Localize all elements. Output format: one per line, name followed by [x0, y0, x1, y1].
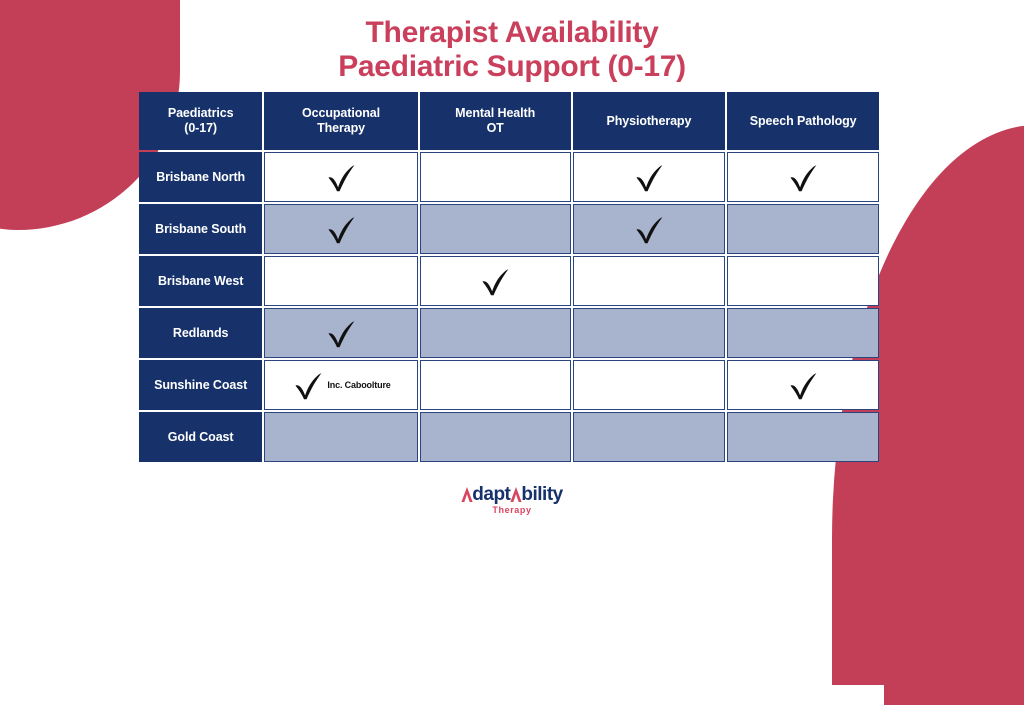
brand-logo-part1: dapt	[472, 484, 510, 505]
brand-logo-part2: bility	[521, 484, 562, 505]
availability-cell-empty	[727, 308, 879, 358]
table-row-label: Gold Coast	[139, 412, 262, 462]
availability-cell-note: Inc. Caboolture	[327, 380, 390, 390]
check-wrapper	[728, 361, 878, 409]
table-row-label: Redlands	[139, 308, 262, 358]
table-row: Gold Coast	[139, 412, 879, 462]
table-column-header: Paediatrics(0-17)	[139, 92, 262, 150]
availability-cell-available	[420, 256, 571, 306]
table-column-header-line: Physiotherapy	[573, 114, 726, 129]
availability-cell-available	[573, 152, 726, 202]
table-row: Brisbane West	[139, 256, 879, 306]
checkmark-icon	[291, 368, 325, 402]
checkmark-icon	[478, 264, 512, 298]
decorative-blob-bottom-right-fill	[884, 375, 1024, 705]
table-column-header: Speech Pathology	[727, 92, 879, 150]
check-wrapper	[421, 257, 570, 305]
availability-cell-empty	[264, 256, 418, 306]
availability-cell-empty	[420, 412, 571, 462]
availability-cell-available	[264, 152, 418, 202]
availability-cell-available	[727, 152, 879, 202]
table-row: Brisbane North	[139, 152, 879, 202]
lambda-a-icon-2	[510, 487, 522, 502]
table-row: Brisbane South	[139, 204, 879, 254]
checkmark-icon	[786, 160, 820, 194]
check-wrapper	[728, 153, 878, 201]
lambda-a-icon	[461, 487, 473, 502]
availability-cell-available	[727, 360, 879, 410]
table-column-header-line: Therapy	[264, 121, 418, 136]
table-column-header-line: Speech Pathology	[727, 114, 879, 129]
availability-cell-empty	[727, 256, 879, 306]
checkmark-icon	[632, 160, 666, 194]
availability-cell-empty	[420, 152, 571, 202]
table-column-header-line: Mental Health	[420, 106, 571, 121]
table-column-header: Mental HealthOT	[420, 92, 571, 150]
check-wrapper	[574, 153, 725, 201]
check-wrapper: Inc. Caboolture	[265, 361, 417, 409]
check-wrapper	[265, 309, 417, 357]
table-header: Paediatrics(0-17)OccupationalTherapyMent…	[139, 92, 879, 150]
table-row-label: Sunshine Coast	[139, 360, 262, 410]
availability-cell-empty	[727, 412, 879, 462]
table-row: Sunshine CoastInc. Caboolture	[139, 360, 879, 410]
brand-logo-wordmark: dapt bility	[461, 484, 562, 505]
check-wrapper	[574, 205, 725, 253]
brand-logo: dapt bility Therapy	[0, 484, 1024, 516]
checkmark-icon	[786, 368, 820, 402]
brand-logo-tagline: Therapy	[0, 504, 1024, 516]
checkmark-icon	[632, 212, 666, 246]
table-column-header: Physiotherapy	[573, 92, 726, 150]
table-row: Redlands	[139, 308, 879, 358]
checkmark-icon	[324, 160, 358, 194]
availability-table: Paediatrics(0-17)OccupationalTherapyMent…	[137, 90, 881, 464]
availability-cell-available	[264, 308, 418, 358]
availability-cell-empty	[727, 204, 879, 254]
check-wrapper	[265, 153, 417, 201]
availability-cell-available	[264, 204, 418, 254]
checkmark-icon	[324, 316, 358, 350]
table-row-label: Brisbane South	[139, 204, 262, 254]
page-title-line-1: Therapist Availability	[0, 16, 1024, 50]
availability-cell-empty	[573, 360, 726, 410]
table-body: Brisbane NorthBrisbane SouthBrisbane Wes…	[139, 152, 879, 462]
availability-cell-empty	[573, 256, 726, 306]
page-title: Therapist Availability Paediatric Suppor…	[0, 16, 1024, 84]
table-row-label: Brisbane North	[139, 152, 262, 202]
availability-cell-empty	[573, 412, 726, 462]
availability-cell-available: Inc. Caboolture	[264, 360, 418, 410]
availability-cell-empty	[420, 204, 571, 254]
availability-cell-empty	[420, 308, 571, 358]
availability-cell-available	[573, 204, 726, 254]
availability-cell-empty	[420, 360, 571, 410]
check-wrapper	[265, 205, 417, 253]
table-column-header-line: OT	[420, 121, 571, 136]
table-column-header-line: (0-17)	[139, 121, 262, 136]
table-column-header-line: Occupational	[264, 106, 418, 121]
availability-cell-empty	[264, 412, 418, 462]
page-title-line-2: Paediatric Support (0-17)	[0, 50, 1024, 84]
table-column-header-line: Paediatrics	[139, 106, 262, 121]
table-column-header: OccupationalTherapy	[264, 92, 418, 150]
availability-cell-empty	[573, 308, 726, 358]
table-header-row: Paediatrics(0-17)OccupationalTherapyMent…	[139, 92, 879, 150]
table-row-label: Brisbane West	[139, 256, 262, 306]
checkmark-icon	[324, 212, 358, 246]
